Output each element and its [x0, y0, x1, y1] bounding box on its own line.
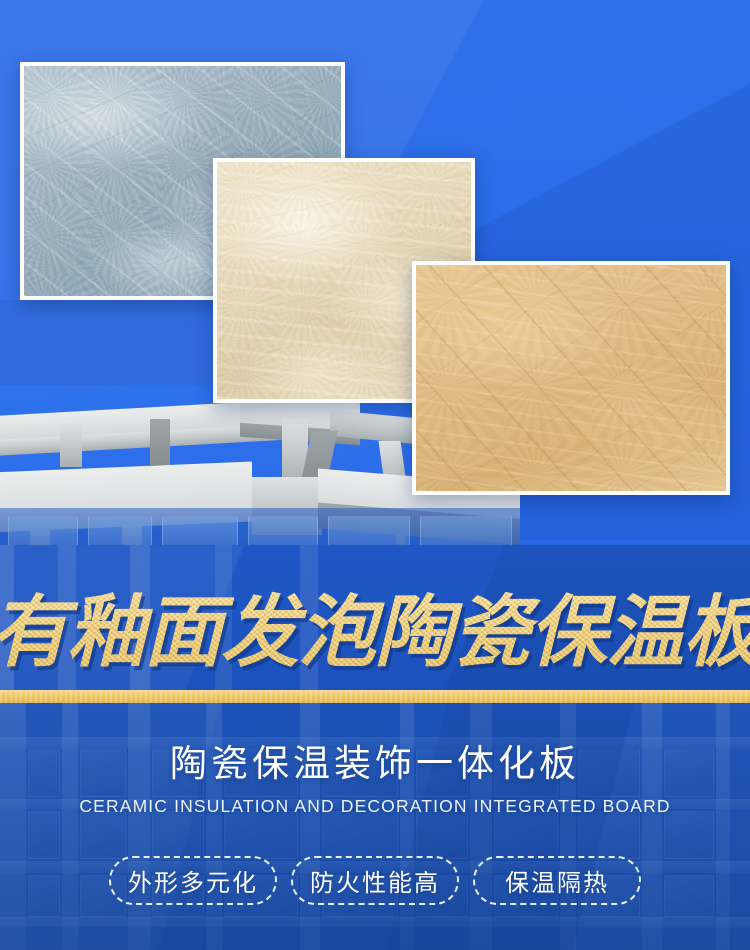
subtitle-english: CERAMIC INSULATION AND DECORATION INTEGR…: [0, 798, 750, 816]
feature-tag-thermal-insulation[interactable]: 保温隔热: [473, 856, 641, 905]
gold-divider-rule: [0, 690, 750, 703]
facade-blue-veil: [0, 703, 750, 950]
subtitle-chinese: 陶瓷保温装饰一体化板: [0, 745, 750, 782]
tile-grain: [416, 265, 726, 491]
building-photo-bottom: [0, 703, 750, 950]
feature-tag-list: 外形多元化 防火性能高 保温隔热: [0, 856, 750, 905]
page-title: 有釉面发泡陶瓷保温板: [0, 583, 750, 681]
product-banner: 有釉面发泡陶瓷保温板: [0, 0, 750, 950]
tile-sample-tan-marble[interactable]: [412, 261, 730, 495]
feature-tag-fire-resistance[interactable]: 防火性能高: [291, 856, 459, 905]
concrete-column: [150, 419, 170, 465]
concrete-column: [60, 423, 82, 467]
feature-tag-shape-diversity[interactable]: 外形多元化: [109, 856, 277, 905]
